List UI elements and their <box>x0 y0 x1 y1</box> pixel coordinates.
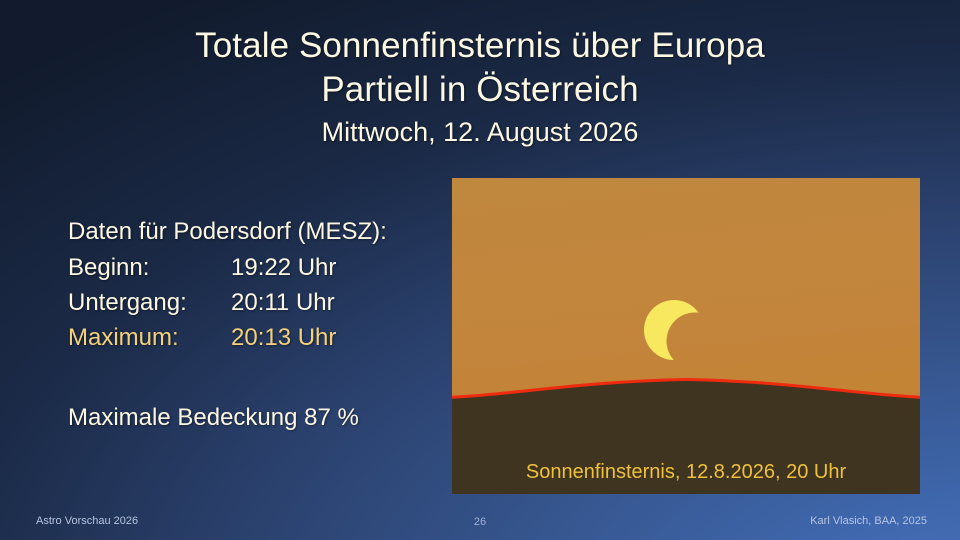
eclipse-illustration: Sonnenfinsternis, 12.8.2026, 20 Uhr <box>452 178 920 494</box>
eclipse-scene-graphic <box>452 178 920 494</box>
data-row-maximum: Maximum:20:13 Uhr <box>68 320 387 355</box>
footer-right-text: Karl Vlasich, BAA, 2025 <box>810 515 927 527</box>
page-title: Totale Sonnenfinsternis über Europa Part… <box>0 24 960 152</box>
figure-caption: Sonnenfinsternis, 12.8.2026, 20 Uhr <box>452 459 920 485</box>
data-row-untergang-value: 20:11 Uhr <box>231 285 335 320</box>
slide-canvas: Totale Sonnenfinsternis über Europa Part… <box>0 0 960 540</box>
slide-footer: Astro Vorschau 2026 26 Karl Vlasich, BAA… <box>0 506 960 540</box>
data-block-heading: Daten für Podersdorf (MESZ): <box>68 214 387 249</box>
data-row-untergang-label: Untergang: <box>68 285 231 320</box>
data-row-beginn: Beginn:19:22 Uhr <box>68 250 387 285</box>
data-row-beginn-value: 19:22 Uhr <box>231 250 336 285</box>
data-row-untergang: Untergang:20:11 Uhr <box>68 285 387 320</box>
data-row-maximum-label: Maximum: <box>68 320 231 355</box>
title-line-2: Partiell in Österreich <box>0 68 960 112</box>
data-row-maximum-value: 20:13 Uhr <box>231 320 336 355</box>
title-line-1: Totale Sonnenfinsternis über Europa <box>0 24 960 68</box>
observation-data-block: Daten für Podersdorf (MESZ): Beginn:19:2… <box>68 214 387 355</box>
data-row-beginn-label: Beginn: <box>68 250 231 285</box>
max-coverage-text: Maximale Bedeckung 87 % <box>68 400 359 435</box>
title-line-3: Mittwoch, 12. August 2026 <box>0 112 960 152</box>
